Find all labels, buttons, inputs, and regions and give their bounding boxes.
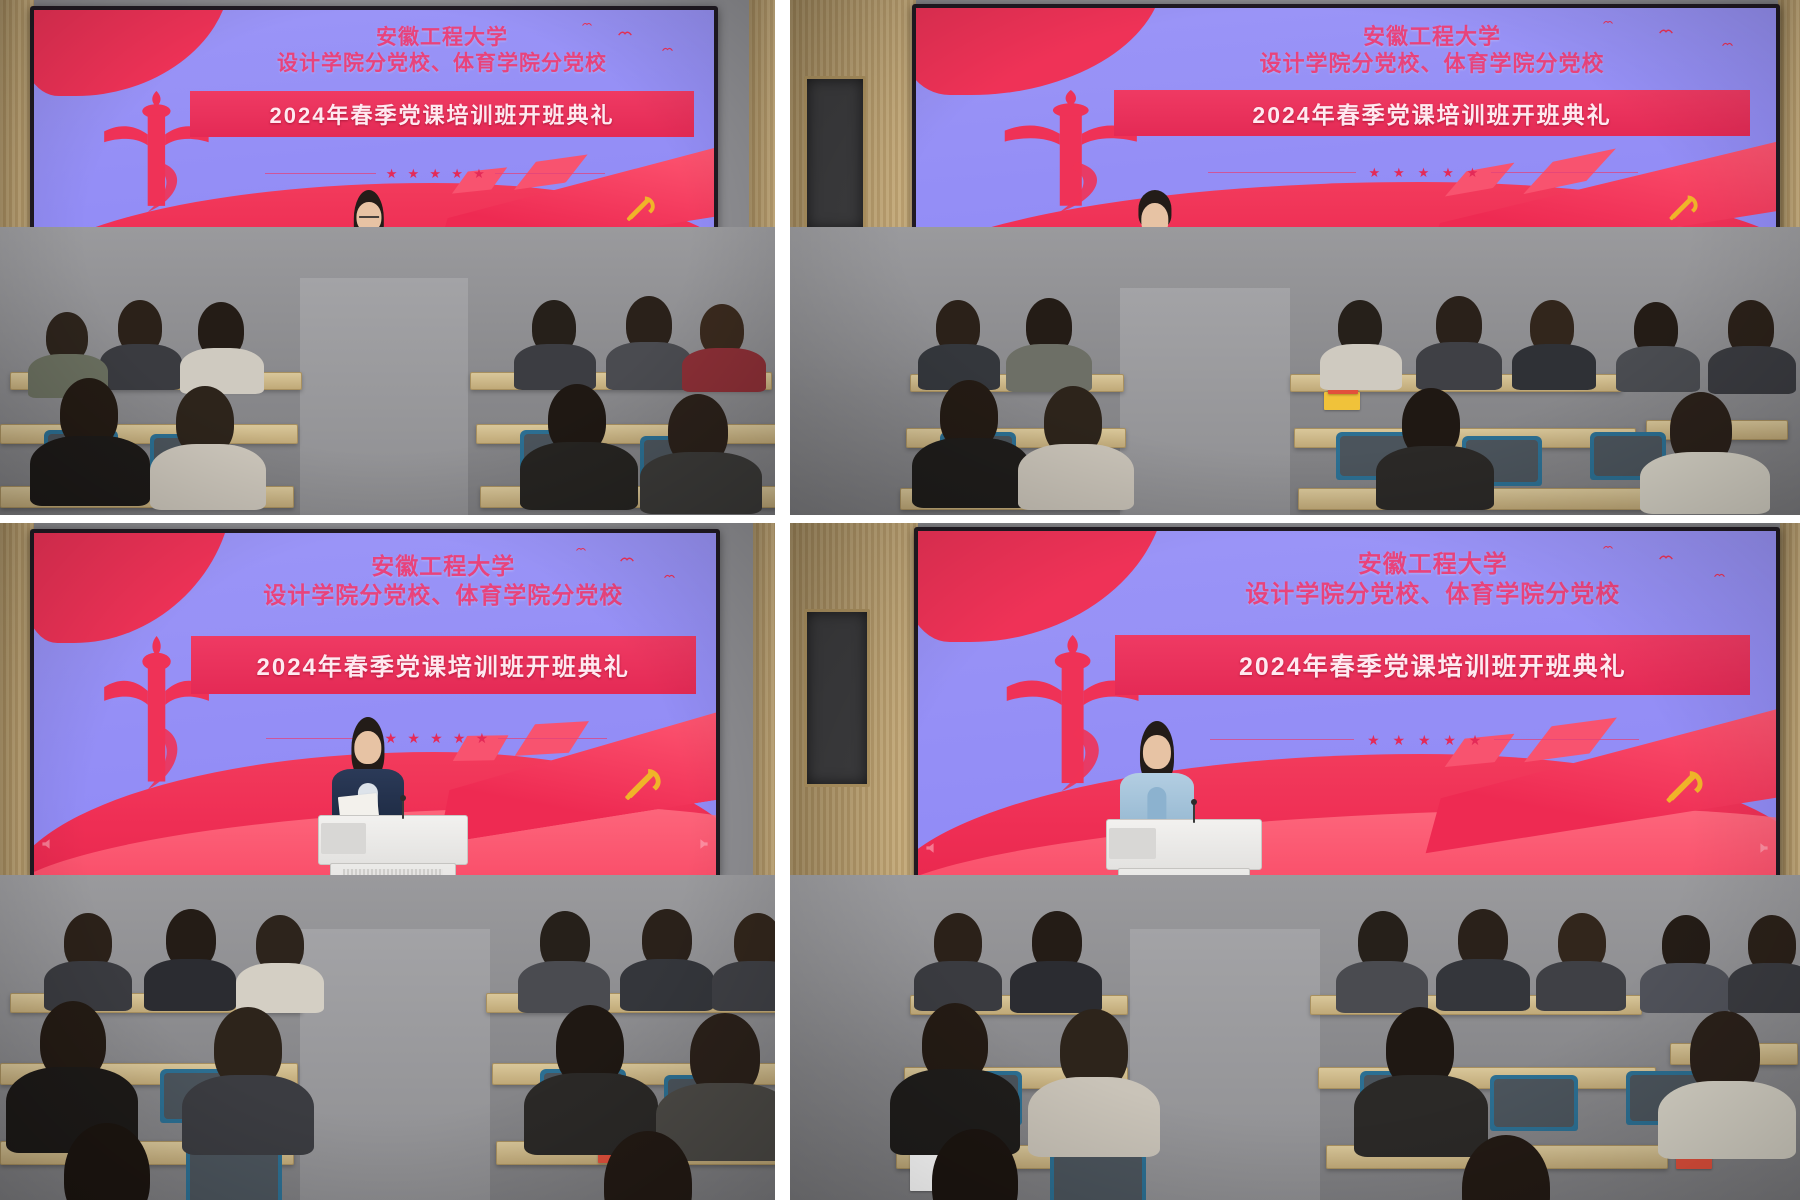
photo-panel-top-left[interactable]: 安徽工程大学 设计学院分党校、体育学院分党校 2024年春季党课培训班开班典礼 …: [0, 0, 775, 515]
star-icon: ★: [430, 731, 443, 745]
star-icon: ★: [429, 167, 441, 180]
slide-ribbon: 2024年春季党课培训班开班典礼: [190, 91, 693, 137]
star-icon: ★: [1367, 733, 1380, 747]
slide-title-line2: 设计学院分党校、体育学院分党校: [198, 581, 689, 610]
wall-window: [804, 609, 870, 787]
star-icon: ★: [453, 731, 466, 745]
audience-shoulders: [1728, 963, 1800, 1013]
projection-screen: 安徽工程大学 设计学院分党校、体育学院分党校 2024年春季党课培训班开班典礼 …: [914, 527, 1780, 883]
audience-shoulders: [1658, 1081, 1796, 1159]
star-icon: ★: [408, 167, 420, 180]
bird-icon: [582, 15, 592, 23]
star-icon: ★: [1393, 166, 1405, 179]
photo-panel-bottom-right[interactable]: 安徽工程大学 设计学院分党校、体育学院分党校 2024年春季党课培训班开班典礼 …: [790, 523, 1800, 1200]
audience-shoulders: [1006, 344, 1092, 392]
slide-stars-row: ★ ★ ★ ★ ★: [265, 167, 605, 180]
microphone-icon: [402, 799, 404, 819]
slide-ribbon-text: 2024年春季党课培训班开班典礼: [257, 647, 630, 682]
slide-stars-row: ★ ★ ★ ★ ★: [1210, 733, 1639, 747]
lecture-hall-room: 安徽工程大学 设计学院分党校、体育学院分党校 2024年春季党课培训班开班典礼 …: [790, 0, 1800, 515]
slide-title-line2: 设计学院分党校、体育学院分党校: [1122, 50, 1741, 78]
head: [354, 731, 381, 764]
slide-title-line2: 设计学院分党校、体育学院分党校: [1124, 580, 1742, 610]
party-emblem-icon: [1651, 190, 1716, 225]
bird-icon: [1603, 13, 1613, 21]
star-icon: ★: [451, 167, 463, 180]
audience-shoulders: [100, 344, 182, 390]
audience-shoulders: [606, 342, 692, 390]
star-icon: ★: [1442, 166, 1454, 179]
slide-title: 安徽工程大学 设计学院分党校、体育学院分党校: [1122, 23, 1741, 78]
audience-shoulders: [30, 436, 150, 506]
lectern-panel: [1109, 828, 1156, 860]
audience-shoulders: [640, 452, 762, 514]
party-emblem-icon: [615, 191, 666, 226]
speaker-icon: [40, 837, 56, 849]
audience-shoulders: [1028, 1077, 1160, 1157]
center-aisle: [1130, 929, 1320, 1200]
slide-ribbon: 2024年春季党课培训班开班典礼: [191, 636, 696, 694]
slide-ribbon: 2024年春季党课培训班开班典礼: [1114, 90, 1750, 136]
glasses-icon: [359, 216, 379, 222]
audience-shoulders: [182, 1075, 314, 1155]
speaker-person: [332, 723, 404, 823]
party-emblem-icon: [617, 762, 668, 806]
speaker-icon: [694, 837, 710, 849]
slide-ribbon: 2024年春季党课培训班开班典礼: [1115, 635, 1750, 694]
bird-icon: [1603, 538, 1613, 546]
audience-shoulders: [1354, 1075, 1488, 1157]
audience-shoulders: [1018, 444, 1134, 510]
lecture-hall-room: 安徽工程大学 设计学院分党校、体育学院分党校 2024年春季党课培训班开班典礼 …: [0, 0, 775, 515]
audience-shoulders: [150, 444, 266, 510]
audience-shoulders: [1640, 452, 1770, 514]
star-icon: ★: [1393, 733, 1406, 747]
slide-title: 安徽工程大学 设计学院分党校、体育学院分党校: [197, 25, 687, 78]
audience-shoulders: [1536, 961, 1626, 1011]
book: [1324, 392, 1360, 410]
audience-shoulders: [912, 438, 1030, 508]
audience-shoulders: [236, 963, 324, 1013]
slide-stars-row: ★ ★ ★ ★ ★: [266, 731, 607, 745]
chair: [1490, 1075, 1578, 1131]
slide-title-line1: 安徽工程大学: [1122, 23, 1741, 51]
star-icon: ★: [386, 167, 398, 180]
photo-collage: 安徽工程大学 设计学院分党校、体育学院分党校 2024年春季党课培训班开班典礼 …: [0, 0, 1800, 1200]
presentation-slide: 安徽工程大学 设计学院分党校、体育学院分党校 2024年春季党课培训班开班典礼 …: [918, 531, 1776, 879]
slide-ribbon-text: 2024年春季党课培训班开班典礼: [1239, 647, 1627, 683]
audience-shoulders: [1376, 446, 1494, 510]
audience-shoulders: [1708, 346, 1796, 394]
center-aisle: [1120, 288, 1290, 515]
star-icon: ★: [1368, 166, 1380, 179]
audience-shoulders: [620, 959, 714, 1011]
audience-shoulders: [1416, 342, 1502, 390]
audience-shoulders: [44, 961, 132, 1011]
party-emblem-icon: [1652, 764, 1716, 809]
audience-shoulders: [1320, 344, 1402, 390]
star-icon: ★: [1443, 733, 1456, 747]
lecture-hall-room: 安徽工程大学 设计学院分党校、体育学院分党校 2024年春季党课培训班开班典礼 …: [0, 523, 775, 1200]
lecture-hall-room: 安徽工程大学 设计学院分党校、体育学院分党校 2024年春季党课培训班开班典礼 …: [790, 523, 1800, 1200]
star-icon: ★: [1467, 166, 1479, 179]
audience-shoulders: [1010, 961, 1102, 1013]
audience-shoulders: [682, 348, 766, 392]
photo-panel-bottom-left[interactable]: 安徽工程大学 设计学院分党校、体育学院分党校 2024年春季党课培训班开班典礼 …: [0, 523, 775, 1200]
star-icon: ★: [1418, 166, 1430, 179]
speaker-icon: [924, 841, 940, 853]
audience-shoulders: [712, 961, 775, 1011]
speaker-person: [1120, 727, 1194, 827]
audience-shoulders: [180, 348, 264, 394]
bird-icon: [576, 540, 586, 548]
audience-shoulders: [1616, 346, 1700, 392]
center-aisle: [300, 929, 490, 1200]
audience-shoulders: [520, 442, 638, 510]
slide-title-line1: 安徽工程大学: [1124, 550, 1742, 580]
slide-title-line1: 安徽工程大学: [197, 25, 687, 51]
audience-shoulders: [1336, 961, 1428, 1013]
audience-shoulders: [144, 959, 236, 1011]
lectern-panel: [321, 823, 366, 854]
audience-shoulders: [1512, 344, 1596, 390]
star-icon: ★: [476, 731, 489, 745]
slide-title-line2: 设计学院分党校、体育学院分党校: [197, 51, 687, 77]
star-icon: ★: [473, 167, 485, 180]
slide-title: 安徽工程大学 设计学院分党校、体育学院分党校: [1124, 550, 1742, 610]
slide-title-line1: 安徽工程大学: [198, 552, 689, 581]
center-aisle: [300, 278, 468, 515]
slide-ribbon-text: 2024年春季党课培训班开班典礼: [1252, 96, 1611, 130]
chair: [1050, 1151, 1146, 1200]
slide-title: 安徽工程大学 设计学院分党校、体育学院分党校: [198, 552, 689, 610]
audience-shoulders: [514, 344, 596, 390]
wall-window: [804, 76, 866, 232]
star-icon: ★: [1469, 733, 1482, 747]
audience-shoulders: [1640, 963, 1730, 1013]
star-icon: ★: [1418, 733, 1431, 747]
photo-panel-top-right[interactable]: 安徽工程大学 设计学院分党校、体育学院分党校 2024年春季党课培训班开班典礼 …: [790, 0, 1800, 515]
head: [1143, 735, 1171, 769]
speaker-icon: [1754, 841, 1770, 853]
slide-ribbon-text: 2024年春季党课培训班开班典礼: [270, 98, 615, 130]
star-icon: ★: [407, 731, 420, 745]
audience-shoulders: [1436, 959, 1530, 1011]
slide-stars-row: ★ ★ ★ ★ ★: [1208, 166, 1638, 179]
